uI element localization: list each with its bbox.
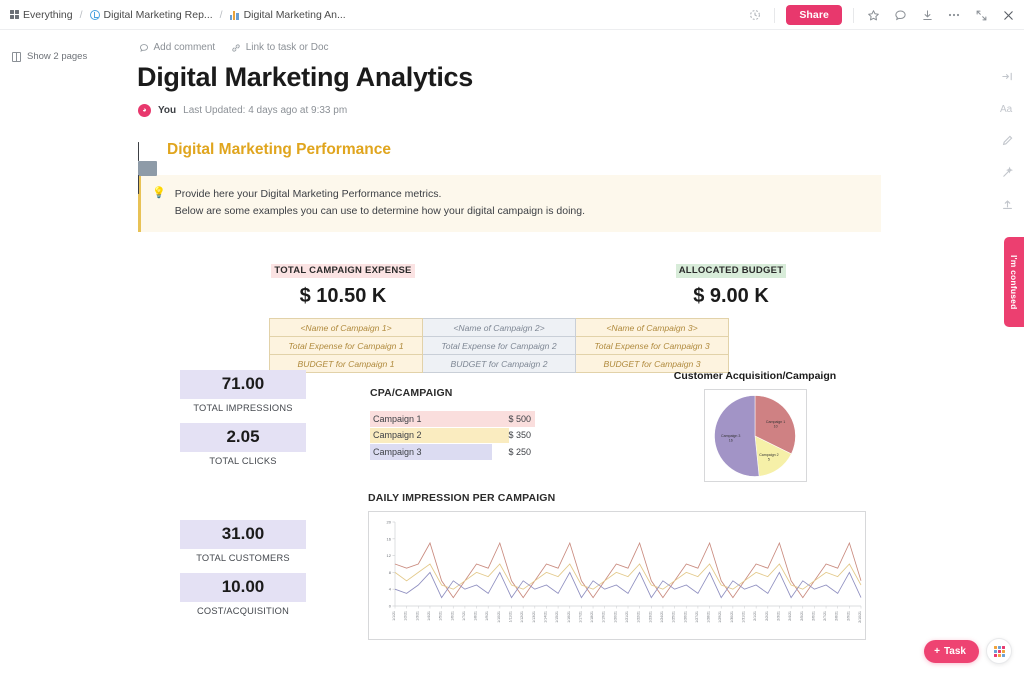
left-rail: Show 2 pages (0, 30, 130, 62)
x-tick-label: 1/14/21 (543, 611, 547, 623)
x-tick-label: 1/15/21 (555, 611, 559, 623)
y-tick-label: 12 (387, 553, 392, 558)
table-row: <Name of Campaign 1> <Name of Campaign 2… (270, 319, 729, 337)
doc-icon (90, 10, 100, 20)
section-title: Digital Marketing Performance (167, 141, 391, 159)
link-to-task-label: Link to task or Doc (246, 42, 329, 53)
table-cell: <Name of Campaign 1> (270, 319, 423, 337)
table-row: Total Expense for Campaign 1 Total Expen… (270, 337, 729, 355)
kpi-value: $ 9.00 K (641, 285, 821, 308)
bar-chart-icon (230, 10, 240, 20)
breadcrumb-item-everything[interactable]: Everything (10, 9, 73, 21)
x-tick-label: 1/22/21 (637, 611, 641, 623)
kpi-row: TOTAL CAMPAIGN EXPENSE $ 10.50 K ALLOCAT… (135, 260, 890, 316)
breadcrumb-item-report[interactable]: Digital Marketing Rep... (90, 9, 213, 21)
x-tick-label: 1/12/21 (520, 611, 524, 623)
new-task-label: Task (944, 646, 966, 657)
magic-icon[interactable] (999, 164, 1015, 180)
show-pages-label: Show 2 pages (27, 51, 87, 62)
breadcrumb-item-analytics[interactable]: Digital Marketing An... (230, 9, 346, 21)
table-cell: <Name of Campaign 3> (576, 319, 729, 337)
x-tick-label: 1/2/21 (404, 611, 408, 621)
cpa-campaign-chart: CPA/CAMPAIGN Campaign 1 $ 500 Campaign 2… (370, 387, 535, 460)
metric-value: 2.05 (180, 423, 306, 452)
x-tick-label: 1/29/21 (718, 611, 722, 623)
x-tick-label: 1/25/21 (672, 611, 676, 623)
apps-grid-icon (994, 646, 1005, 657)
kpi-label: ALLOCATED BUDGET (676, 264, 787, 278)
grid-icon (10, 10, 19, 19)
breadcrumb-separator: / (220, 9, 223, 21)
line-chart-frame: 0481216201/1/211/2/211/3/211/4/211/5/211… (368, 511, 866, 640)
doc-meta: ◕ You Last Updated: 4 days ago at 9:33 p… (135, 104, 890, 117)
metric-value: 71.00 (180, 370, 306, 399)
cpa-row: Campaign 3 $ 250 (370, 444, 535, 460)
campaign-table-body: <Name of Campaign 1> <Name of Campaign 2… (270, 319, 729, 373)
x-tick-label: 2/10/21 (858, 611, 862, 623)
apps-button[interactable] (986, 638, 1012, 664)
x-tick-label: 1/8/21 (474, 611, 478, 621)
x-tick-label: 1/5/21 (439, 611, 443, 621)
right-rail: Aa (990, 30, 1024, 676)
metric-card-total-customers: 31.00 TOTAL CUSTOMERS (180, 520, 306, 563)
x-tick-label: 1/31/21 (742, 611, 746, 623)
table-cell: <Name of Campaign 2> (423, 319, 576, 337)
x-tick-label: 1/1/21 (392, 611, 396, 621)
breadcrumb-label: Digital Marketing An... (244, 9, 346, 21)
table-cell: Total Expense for Campaign 3 (576, 337, 729, 355)
plus-icon: + (934, 646, 940, 657)
breadcrumb-label: Digital Marketing Rep... (104, 9, 213, 21)
x-tick-label: 1/24/21 (660, 611, 664, 623)
lightbulb-icon: 💡 (152, 186, 166, 220)
more-icon[interactable] (946, 7, 962, 23)
svg-text:Aa: Aa (1000, 104, 1013, 115)
cpa-value: $ 500 (508, 414, 535, 424)
pie-chart-svg: Campaign 110Campaign 25Campaign 316 (711, 392, 799, 480)
callout-line-2: Below are some examples you can use to d… (175, 203, 585, 220)
x-tick-label: 2/9/21 (846, 611, 850, 621)
cpa-label: Campaign 2 (370, 430, 422, 440)
indent-icon[interactable] (999, 68, 1015, 84)
upload-icon[interactable] (999, 196, 1015, 212)
metric-caption: TOTAL CLICKS (180, 456, 306, 466)
y-tick-label: 0 (389, 604, 392, 609)
kpi-allocated-budget: ALLOCATED BUDGET $ 9.00 K (641, 260, 821, 308)
x-tick-label: 1/10/21 (497, 611, 501, 623)
daily-impression-line-chart: DAILY IMPRESSION PER CAMPAIGN 0481216201… (368, 492, 868, 640)
x-tick-label: 1/16/21 (567, 611, 571, 623)
font-icon[interactable]: Aa (999, 100, 1015, 116)
metric-caption: TOTAL CUSTOMERS (180, 553, 306, 563)
x-tick-label: 1/13/21 (532, 611, 536, 623)
x-tick-label: 1/18/21 (590, 611, 594, 623)
collapse-icon[interactable] (973, 7, 989, 23)
link-to-task-button[interactable]: Link to task or Doc (231, 42, 328, 53)
breadcrumb-label: Everything (23, 9, 73, 21)
add-comment-label: Add comment (154, 42, 216, 53)
x-tick-label: 1/19/21 (602, 611, 606, 623)
x-tick-label: 2/2/21 (765, 611, 769, 621)
x-tick-label: 2/5/21 (800, 611, 804, 621)
metric-caption: COST/ACQUISITION (180, 606, 306, 616)
cpa-row: Campaign 2 $ 350 (370, 428, 535, 444)
metric-caption: TOTAL IMPRESSIONS (180, 403, 306, 413)
customer-acquisition-pie-chart: Customer Acquisition/Campaign Campaign 1… (655, 370, 855, 482)
x-tick-label: 2/8/21 (835, 611, 839, 621)
x-tick-label: 2/3/21 (776, 611, 780, 621)
x-tick-label: 1/7/21 (462, 611, 466, 621)
callout-line-1: Provide here your Digital Marketing Perf… (175, 186, 585, 203)
x-tick-label: 1/6/21 (450, 611, 454, 621)
x-tick-label: 1/3/21 (415, 611, 419, 621)
cpa-rows: Campaign 1 $ 500 Campaign 2 $ 350 Campai… (370, 411, 535, 460)
top-bar: Everything / Digital Marketing Rep... / … (0, 0, 1024, 30)
share-button[interactable]: Share (786, 5, 842, 25)
kpi-total-campaign-expense: TOTAL CAMPAIGN EXPENSE $ 10.50 K (253, 260, 433, 308)
x-tick-label: 2/1/21 (753, 611, 757, 621)
y-tick-label: 4 (389, 587, 392, 592)
section-header: Digital Marketing Performance (135, 141, 890, 159)
new-task-button[interactable]: + Task (924, 640, 979, 663)
x-tick-label: 1/27/21 (695, 611, 699, 623)
close-icon[interactable] (1000, 7, 1016, 23)
cpa-chart-title: CPA/CAMPAIGN (370, 387, 535, 399)
show-pages-toggle[interactable]: Show 2 pages (0, 51, 130, 62)
cpa-value: $ 250 (508, 447, 535, 457)
x-tick-label: 1/30/21 (730, 611, 734, 623)
x-tick-label: 2/4/21 (788, 611, 792, 621)
x-tick-label: 2/6/21 (811, 611, 815, 621)
line-chart-title: DAILY IMPRESSION PER CAMPAIGN (368, 492, 868, 504)
line-chart-svg: 0481216201/1/211/2/211/3/211/4/211/5/211… (369, 512, 867, 641)
cpa-row: Campaign 1 $ 500 (370, 411, 535, 427)
pie-chart-title: Customer Acquisition/Campaign (655, 370, 855, 382)
x-tick-label: 2/7/21 (823, 611, 827, 621)
x-tick-label: 1/20/21 (613, 611, 617, 623)
metric-card-total-clicks: 2.05 TOTAL CLICKS (180, 423, 306, 466)
y-tick-label: 8 (389, 570, 392, 575)
metric-value: 10.00 (180, 573, 306, 602)
table-cell: Total Expense for Campaign 2 (423, 337, 576, 355)
pie-chart-frame: Campaign 110Campaign 25Campaign 316 (704, 389, 807, 482)
last-updated-label: Last Updated: 4 days ago at 9:33 pm (183, 105, 347, 116)
author-label: You (158, 105, 176, 116)
y-tick-label: 16 (387, 536, 392, 541)
x-tick-label: 1/17/21 (578, 611, 582, 623)
divider (853, 8, 854, 23)
comment-icon[interactable] (892, 7, 908, 23)
pages-panel-icon (12, 52, 21, 62)
cpa-value: $ 350 (508, 430, 535, 440)
edit-icon[interactable] (999, 132, 1015, 148)
doc-action-bar: Add comment Link to task or Doc (135, 42, 890, 53)
breadcrumb-separator: / (80, 9, 83, 21)
x-tick-label: 1/4/21 (427, 611, 431, 621)
table-cell: BUDGET for Campaign 2 (423, 355, 576, 373)
kpi-value: $ 10.50 K (253, 285, 433, 308)
metric-value: 31.00 (180, 520, 306, 549)
campaign-table: <Name of Campaign 1> <Name of Campaign 2… (269, 318, 729, 373)
document-canvas: Add comment Link to task or Doc Digital … (130, 30, 890, 676)
top-bar-actions: Share (747, 0, 1016, 30)
callout-box: 💡 Provide here your Digital Marketing Pe… (138, 175, 881, 232)
star-icon[interactable] (865, 7, 881, 23)
cpa-label: Campaign 3 (370, 447, 422, 457)
x-tick-label: 1/21/21 (625, 611, 629, 623)
x-tick-label: 1/11/21 (509, 611, 513, 622)
cpa-label: Campaign 1 (370, 414, 422, 424)
divider (774, 8, 775, 23)
metric-card-cost-per-acquisition: 10.00 COST/ACQUISITION (180, 573, 306, 616)
page-title[interactable]: Digital Marketing Analytics (135, 62, 890, 93)
table-cell: Total Expense for Campaign 1 (270, 337, 423, 355)
avatar[interactable]: ◕ (138, 104, 151, 117)
y-tick-label: 20 (387, 520, 392, 525)
im-confused-tab[interactable]: I'm confused (1004, 237, 1024, 327)
x-tick-label: 1/23/21 (648, 611, 652, 623)
history-icon[interactable] (747, 7, 763, 23)
download-icon[interactable] (919, 7, 935, 23)
kpi-label: TOTAL CAMPAIGN EXPENSE (271, 264, 414, 278)
breadcrumb: Everything / Digital Marketing Rep... / … (10, 9, 346, 21)
add-comment-button[interactable]: Add comment (139, 42, 215, 53)
x-tick-label: 1/26/21 (683, 611, 687, 623)
im-confused-label: I'm confused (1009, 255, 1019, 309)
x-tick-label: 1/28/21 (707, 611, 711, 623)
x-tick-label: 1/9/21 (485, 611, 489, 621)
bottom-right-actions: + Task (924, 638, 1012, 664)
metric-card-total-impressions: 71.00 TOTAL IMPRESSIONS (180, 370, 306, 413)
monitor-icon (138, 143, 157, 158)
